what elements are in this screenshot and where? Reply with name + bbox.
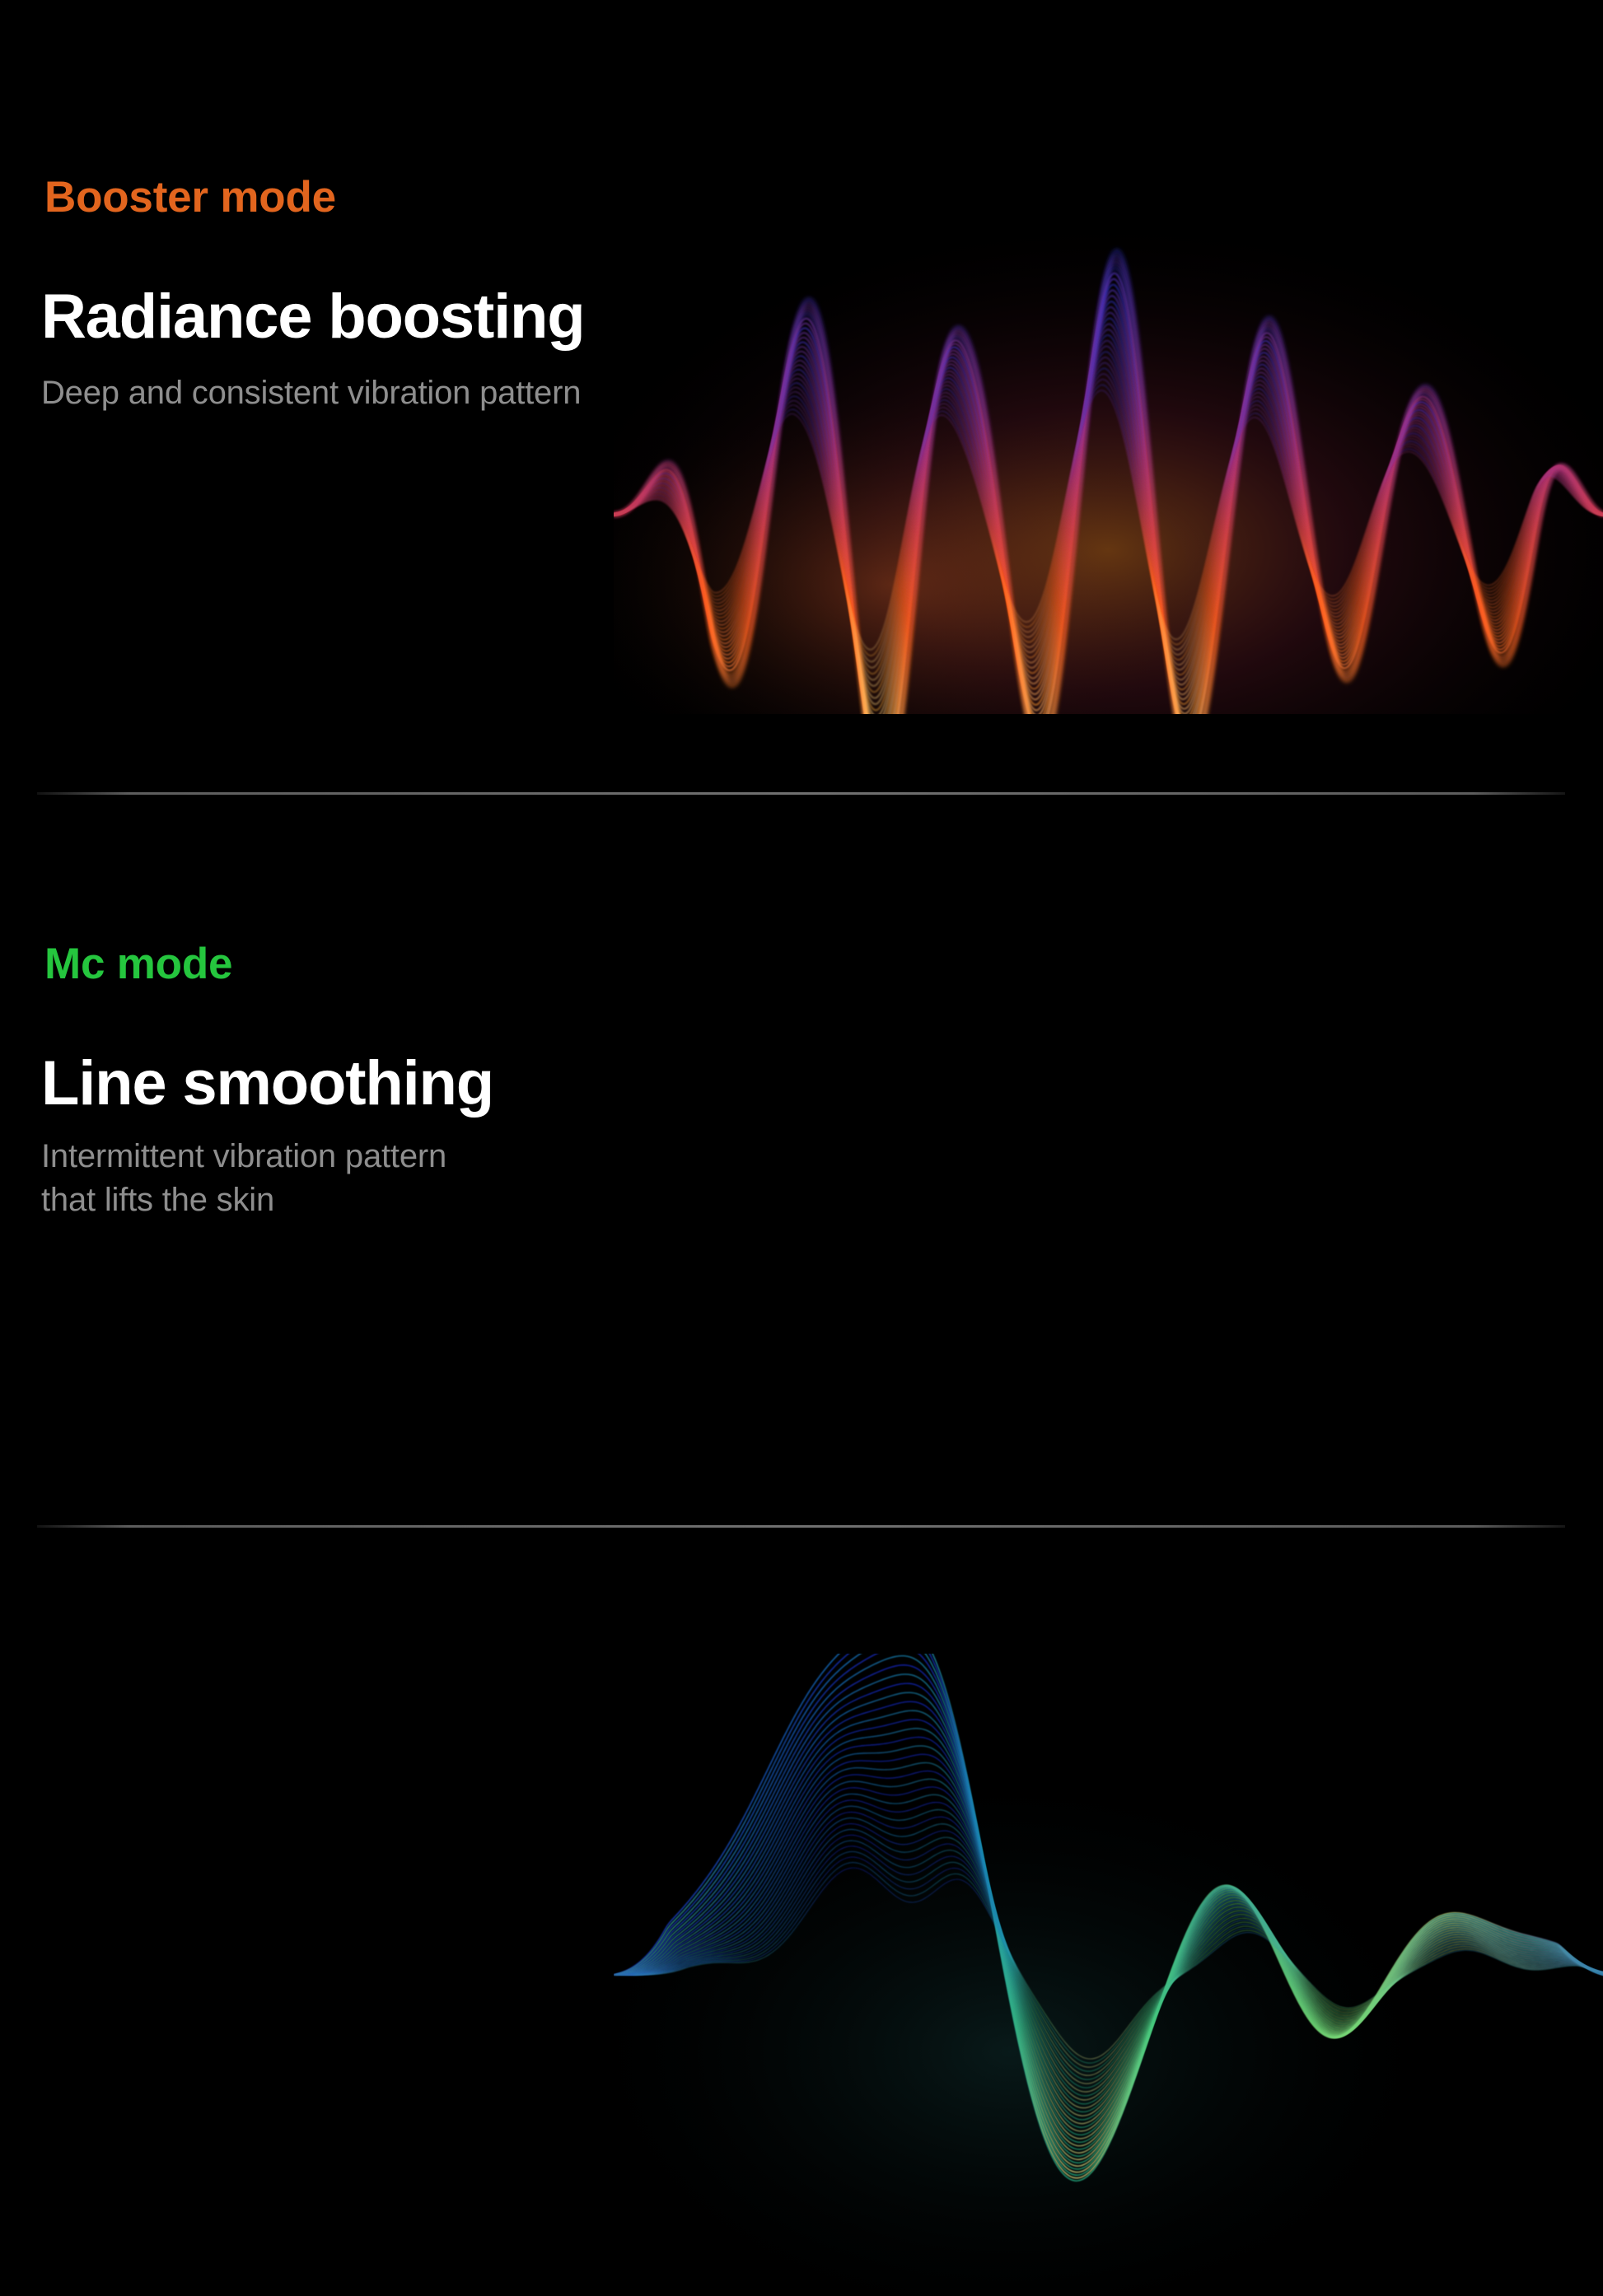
mc-wave-glow	[614, 1654, 1603, 2296]
booster-mode-title: Radiance boosting	[41, 285, 610, 349]
page-root: Booster mode Radiance boosting Deep and …	[0, 0, 1603, 1603]
mc-waveform-image	[614, 1654, 1603, 2296]
mc-text-block: Mc mode Line smoothing Intermittent vibr…	[41, 941, 610, 1222]
booster-text-block: Booster mode Radiance boosting Deep and …	[41, 175, 610, 415]
booster-wave-glow-2	[614, 128, 1603, 714]
mc-waveform-svg	[614, 1654, 1603, 2296]
mc-mode-description: Intermittent vibration pattern that lift…	[41, 1135, 610, 1222]
mc-mode-label: Mc mode	[44, 941, 610, 987]
booster-mode-label: Booster mode	[44, 175, 610, 221]
section-booster-mode: Booster mode Radiance boosting Deep and …	[0, 0, 1603, 793]
booster-waveform-image	[614, 128, 1603, 714]
mc-mode-title: Line smoothing	[41, 1052, 610, 1116]
booster-mode-description: Deep and consistent vibration pattern	[41, 371, 610, 415]
section-mc-mode: Mc mode Line smoothing Intermittent vibr…	[0, 793, 1603, 1526]
divider-bottom	[37, 1525, 1565, 1528]
booster-waveform-svg	[614, 128, 1603, 714]
